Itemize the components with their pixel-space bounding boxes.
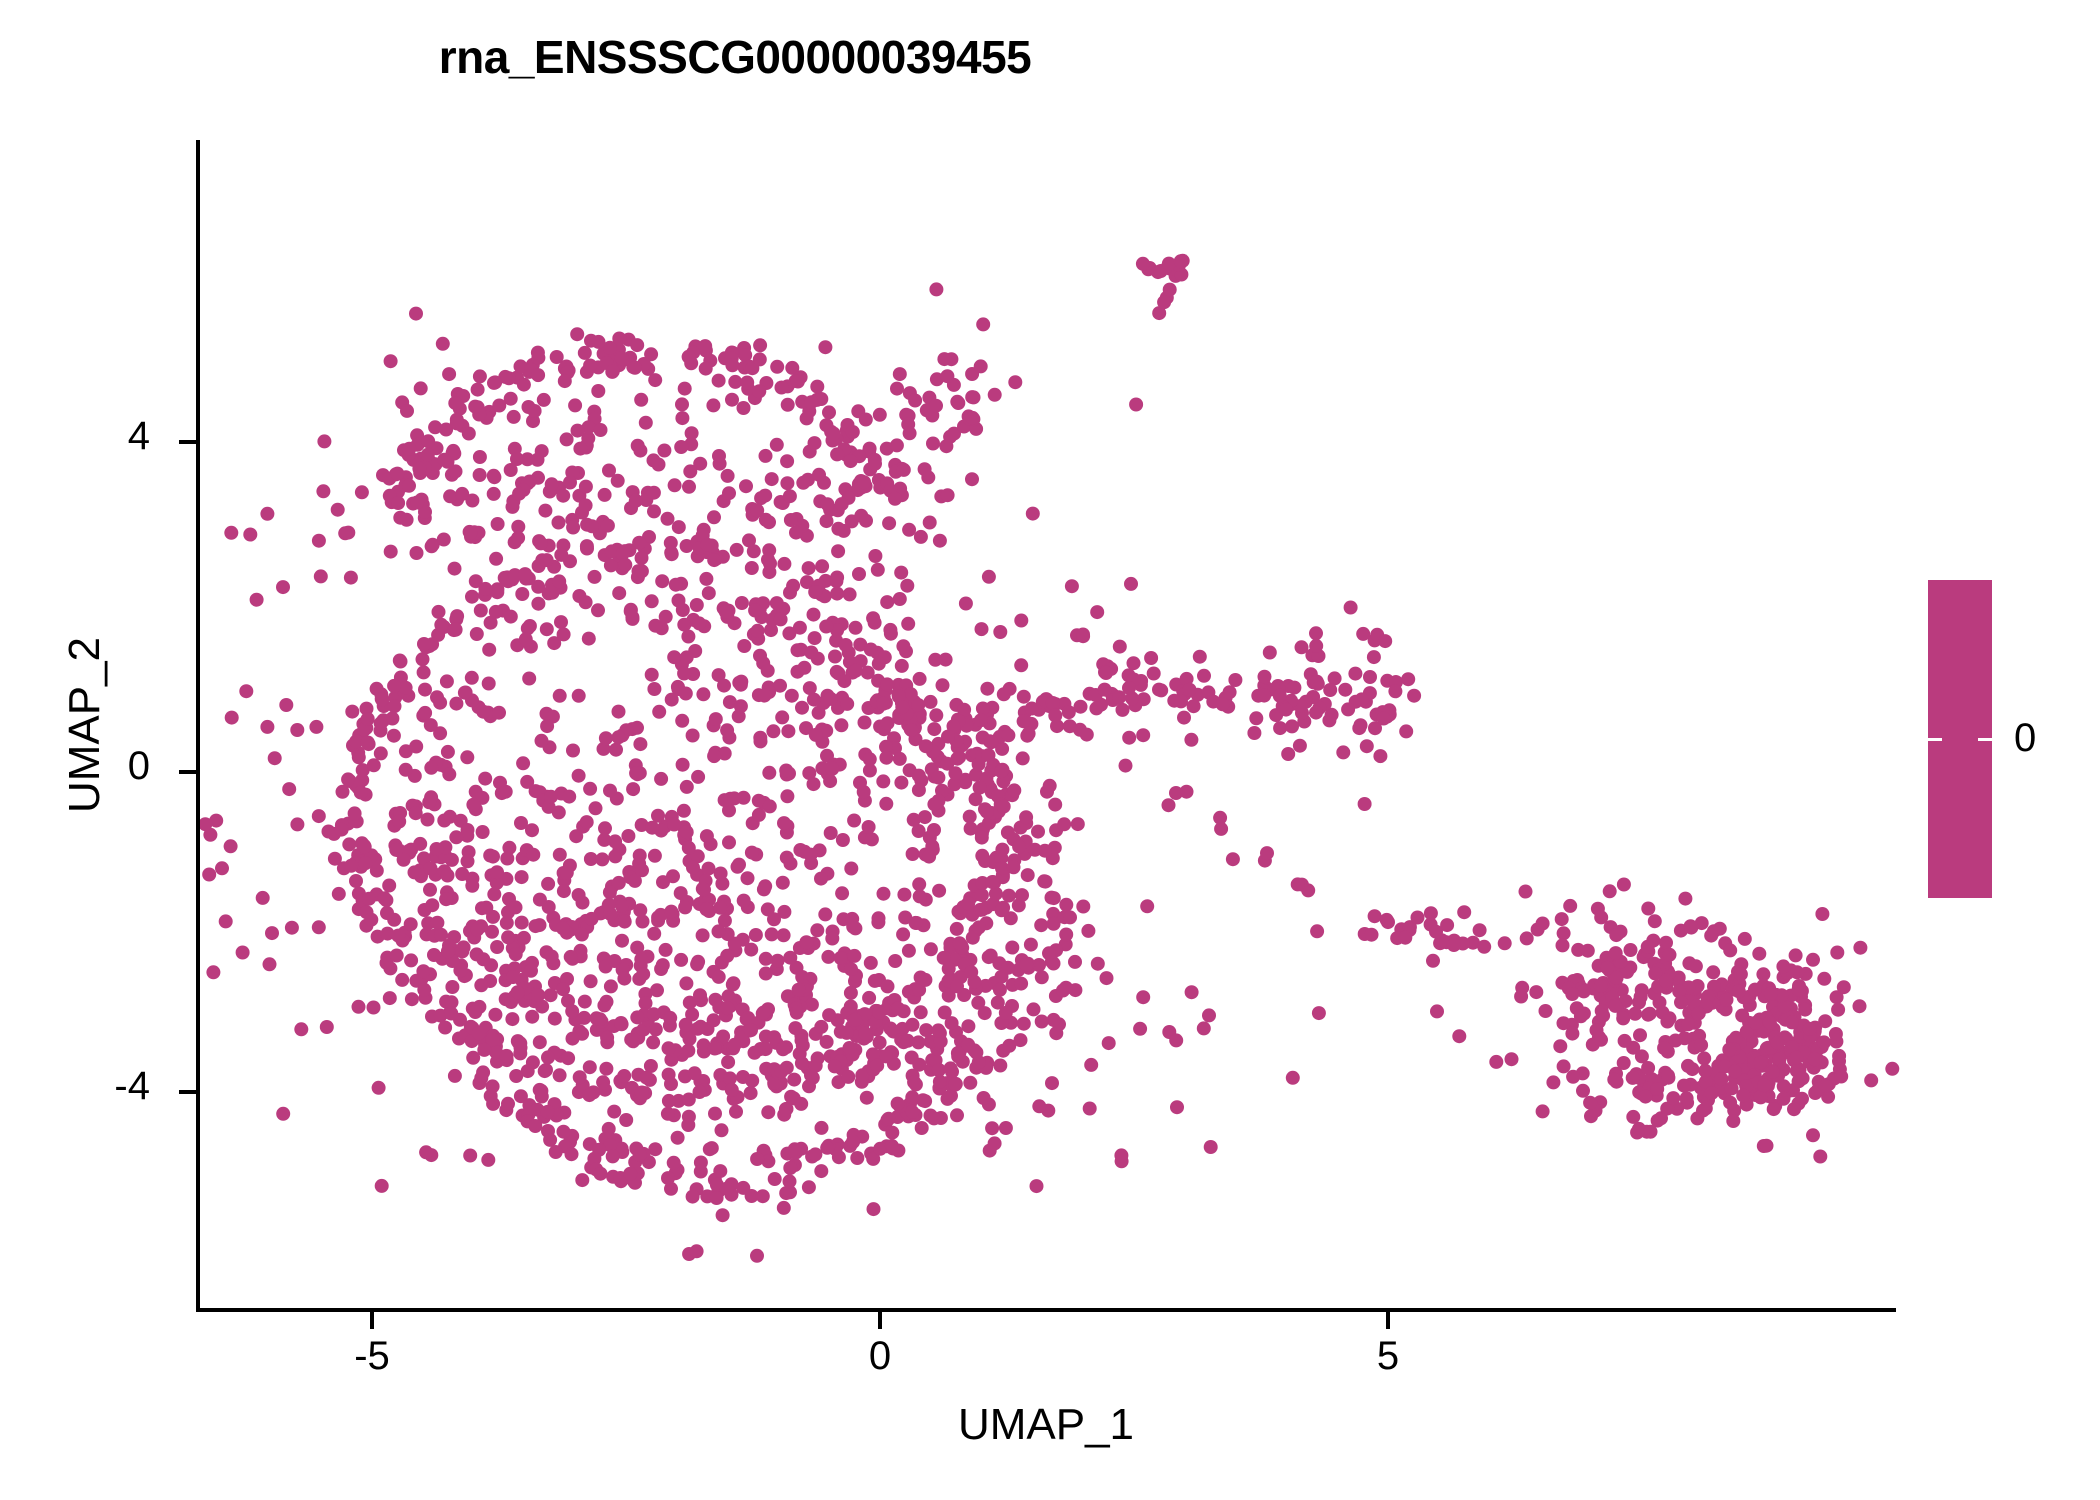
scatter-point xyxy=(691,535,705,549)
scatter-point xyxy=(614,1075,628,1089)
scatter-point xyxy=(841,430,855,444)
scatter-point xyxy=(487,376,501,390)
scatter-point xyxy=(879,696,893,710)
scatter-point xyxy=(612,332,626,346)
scatter-point xyxy=(669,578,683,592)
scatter-point xyxy=(1505,1052,1519,1066)
scatter-point xyxy=(528,1119,542,1133)
scatter-point xyxy=(522,672,536,686)
scatter-point xyxy=(888,993,902,1007)
scatter-point xyxy=(1611,997,1625,1011)
scatter-point xyxy=(813,843,827,857)
scatter-point xyxy=(995,742,1009,756)
scatter-point xyxy=(719,605,733,619)
scatter-point xyxy=(912,769,926,783)
scatter-point xyxy=(791,375,805,389)
scatter-point xyxy=(1748,1088,1762,1102)
scatter-point xyxy=(1284,694,1298,708)
scatter-point xyxy=(949,698,963,712)
scatter-point xyxy=(1808,1024,1822,1038)
scatter-point xyxy=(500,570,514,584)
scatter-point xyxy=(1769,1032,1783,1046)
scatter-point xyxy=(1020,729,1034,743)
scatter-point xyxy=(924,695,938,709)
scatter-point xyxy=(932,1063,946,1077)
scatter-point xyxy=(462,845,476,859)
scatter-point xyxy=(892,690,906,704)
scatter-point xyxy=(635,564,649,578)
scatter-point xyxy=(1022,961,1036,975)
scatter-point xyxy=(680,895,694,909)
scatter-point xyxy=(753,649,767,663)
scatter-point xyxy=(454,814,468,828)
scatter-point xyxy=(1176,684,1190,698)
scatter-point xyxy=(721,927,735,941)
scatter-point xyxy=(1807,1028,1821,1042)
x-tick-0 xyxy=(878,1312,882,1329)
scatter-point xyxy=(674,953,688,967)
scatter-point xyxy=(597,998,611,1012)
scatter-point xyxy=(831,701,845,715)
scatter-point xyxy=(899,644,913,658)
scatter-point xyxy=(439,423,453,437)
scatter-point xyxy=(1039,692,1053,706)
scatter-point xyxy=(512,940,526,954)
scatter-point xyxy=(844,986,858,1000)
scatter-point xyxy=(1728,1064,1742,1078)
scatter-point xyxy=(1567,974,1581,988)
scatter-point xyxy=(1285,697,1299,711)
scatter-point xyxy=(961,1019,975,1033)
scatter-point xyxy=(1257,689,1271,703)
scatter-point xyxy=(1056,984,1070,998)
scatter-point xyxy=(1761,1077,1775,1091)
scatter-point xyxy=(626,782,640,796)
scatter-point xyxy=(1674,924,1688,938)
scatter-point xyxy=(988,388,1002,402)
scatter-point xyxy=(202,868,216,882)
scatter-point xyxy=(1701,991,1715,1005)
scatter-point xyxy=(509,900,523,914)
scatter-point xyxy=(1556,938,1570,952)
scatter-point xyxy=(482,405,496,419)
scatter-point xyxy=(766,724,780,738)
scatter-point xyxy=(465,1034,479,1048)
scatter-point xyxy=(615,899,629,913)
scatter-point xyxy=(1758,989,1772,1003)
scatter-point xyxy=(933,1075,947,1089)
scatter-point xyxy=(536,794,550,808)
scatter-point xyxy=(1660,976,1674,990)
scatter-point xyxy=(1136,990,1150,1004)
scatter-point xyxy=(563,859,577,873)
scatter-point xyxy=(1119,759,1133,773)
scatter-point xyxy=(921,470,935,484)
scatter-point xyxy=(1154,683,1168,697)
scatter-point xyxy=(519,960,533,974)
scatter-point xyxy=(1725,1081,1739,1095)
scatter-point xyxy=(697,619,711,633)
scatter-point xyxy=(957,420,971,434)
scatter-point xyxy=(557,1125,571,1139)
scatter-point xyxy=(956,1055,970,1069)
scatter-point xyxy=(1837,980,1851,994)
scatter-point xyxy=(1581,944,1595,958)
scatter-point xyxy=(1748,1057,1762,1071)
scatter-point xyxy=(593,1012,607,1026)
scatter-point xyxy=(535,1000,549,1014)
scatter-point xyxy=(889,465,903,479)
scatter-point xyxy=(994,797,1008,811)
scatter-point xyxy=(602,1122,616,1136)
scatter-point xyxy=(441,944,455,958)
scatter-point xyxy=(1637,1080,1651,1094)
scatter-point xyxy=(814,872,828,886)
scatter-point xyxy=(791,643,805,657)
scatter-point xyxy=(763,799,777,813)
scatter-point xyxy=(885,1139,899,1153)
scatter-point xyxy=(1312,649,1326,663)
scatter-point xyxy=(1833,1062,1847,1076)
scatter-point xyxy=(980,682,994,696)
scatter-point xyxy=(417,665,431,679)
scatter-point xyxy=(779,764,793,778)
scatter-point xyxy=(1784,963,1798,977)
scatter-point xyxy=(447,623,461,637)
scatter-point xyxy=(613,551,627,565)
scatter-point xyxy=(821,689,835,703)
scatter-point xyxy=(1777,1079,1791,1093)
scatter-point xyxy=(564,922,578,936)
scatter-point xyxy=(422,639,436,653)
scatter-point xyxy=(680,780,694,794)
scatter-point xyxy=(770,962,784,976)
scatter-point xyxy=(800,411,814,425)
scatter-point xyxy=(1755,1048,1769,1062)
scatter-point xyxy=(198,817,212,831)
scatter-point xyxy=(707,965,721,979)
scatter-point xyxy=(393,511,407,525)
scatter-point xyxy=(831,1138,845,1152)
scatter-point xyxy=(888,741,902,755)
scatter-point xyxy=(753,352,767,366)
scatter-point xyxy=(612,876,626,890)
scatter-point xyxy=(1435,933,1449,947)
scatter-point xyxy=(1626,1041,1640,1055)
scatter-point xyxy=(593,526,607,540)
scatter-point xyxy=(1799,967,1813,981)
scatter-point xyxy=(694,1020,708,1034)
scatter-point xyxy=(745,361,759,375)
scatter-point xyxy=(341,526,355,540)
scatter-point xyxy=(1014,977,1028,991)
scatter-point xyxy=(840,1006,854,1020)
scatter-point xyxy=(1349,695,1363,709)
scatter-point xyxy=(495,786,509,800)
scatter-point xyxy=(767,1030,781,1044)
scatter-point xyxy=(1115,1154,1129,1168)
scatter-point xyxy=(788,1021,802,1035)
scatter-point xyxy=(1307,675,1321,689)
scatter-point xyxy=(1697,1000,1711,1014)
scatter-point xyxy=(545,578,559,592)
scatter-point xyxy=(834,1025,848,1039)
scatter-point xyxy=(1632,1071,1646,1085)
scatter-point xyxy=(589,801,603,815)
scatter-point xyxy=(1609,974,1623,988)
scatter-point xyxy=(902,689,916,703)
scatter-point xyxy=(489,605,503,619)
scatter-point xyxy=(1658,956,1672,970)
scatter-point xyxy=(412,462,426,476)
scatter-point xyxy=(909,916,923,930)
scatter-point xyxy=(931,750,945,764)
scatter-point xyxy=(507,410,521,424)
scatter-point xyxy=(762,565,776,579)
scatter-point xyxy=(1041,1104,1055,1118)
scatter-point xyxy=(385,712,399,726)
scatter-point xyxy=(524,964,538,978)
scatter-point xyxy=(958,958,972,972)
scatter-point xyxy=(878,683,892,697)
scatter-point xyxy=(821,497,835,511)
scatter-point xyxy=(1399,724,1413,738)
scatter-point xyxy=(878,1118,892,1132)
scatter-point xyxy=(638,987,652,1001)
scatter-point xyxy=(787,1073,801,1087)
scatter-point xyxy=(1782,1084,1796,1098)
scatter-point xyxy=(757,1144,771,1158)
scatter-point xyxy=(506,970,520,984)
scatter-point xyxy=(1068,955,1082,969)
scatter-point xyxy=(986,758,1000,772)
scatter-point xyxy=(1176,254,1190,268)
scatter-point xyxy=(1411,911,1425,925)
scatter-point xyxy=(918,973,932,987)
scatter-point xyxy=(1604,952,1618,966)
scatter-point xyxy=(629,758,643,772)
scatter-point xyxy=(1738,932,1752,946)
scatter-point xyxy=(848,1043,862,1057)
scatter-point xyxy=(659,943,673,957)
scatter-point xyxy=(656,958,670,972)
scatter-point xyxy=(1019,958,1033,972)
scatter-point xyxy=(496,604,510,618)
scatter-point xyxy=(399,470,413,484)
scatter-point xyxy=(872,973,886,987)
scatter-point xyxy=(743,360,757,374)
scatter-point xyxy=(897,463,911,477)
scatter-point xyxy=(565,1004,579,1018)
scatter-point xyxy=(784,1090,798,1104)
scatter-point xyxy=(490,1055,504,1069)
scatter-point xyxy=(853,1009,867,1023)
scatter-point xyxy=(1226,852,1240,866)
scatter-point xyxy=(696,528,710,542)
scatter-point xyxy=(522,400,536,414)
scatter-point xyxy=(907,813,921,827)
scatter-point xyxy=(893,482,907,496)
scatter-point xyxy=(968,1043,982,1057)
scatter-point xyxy=(734,678,748,692)
scatter-point xyxy=(597,742,611,756)
scatter-point xyxy=(739,479,753,493)
scatter-point xyxy=(972,1055,986,1069)
x-axis-title: UMAP_1 xyxy=(196,1400,1896,1450)
scatter-point xyxy=(1626,1110,1640,1124)
scatter-point xyxy=(557,866,571,880)
scatter-point xyxy=(490,865,504,879)
scatter-point xyxy=(541,1124,555,1138)
scatter-point xyxy=(1169,678,1183,692)
scatter-point xyxy=(685,426,699,440)
scatter-point xyxy=(359,721,373,735)
scatter-point xyxy=(463,924,477,938)
scatter-point xyxy=(804,848,818,862)
scatter-point xyxy=(888,954,902,968)
scatter-point xyxy=(934,489,948,503)
scatter-point xyxy=(732,676,746,690)
scatter-point xyxy=(618,558,632,572)
scatter-point xyxy=(958,735,972,749)
scatter-point xyxy=(716,550,730,564)
scatter-point xyxy=(644,347,658,361)
scatter-point xyxy=(502,892,516,906)
scatter-point xyxy=(642,530,656,544)
scatter-point xyxy=(658,819,672,833)
scatter-point xyxy=(387,913,401,927)
scatter-point xyxy=(1295,640,1309,654)
scatter-point xyxy=(780,454,794,468)
scatter-point xyxy=(631,1166,645,1180)
scatter-point xyxy=(1165,259,1179,273)
scatter-point xyxy=(577,1011,591,1025)
scatter-point xyxy=(832,1150,846,1164)
scatter-point xyxy=(1793,1025,1807,1039)
scatter-point xyxy=(570,327,584,341)
scatter-point xyxy=(419,640,433,654)
scatter-point xyxy=(933,1082,947,1096)
scatter-point xyxy=(563,554,577,568)
scatter-point xyxy=(840,1053,854,1067)
scatter-point xyxy=(380,951,394,965)
scatter-point xyxy=(352,1000,366,1014)
scatter-point xyxy=(710,1041,724,1055)
scatter-point xyxy=(409,307,423,321)
scatter-point xyxy=(541,1105,555,1119)
scatter-point xyxy=(583,782,597,796)
scatter-point xyxy=(625,610,639,624)
scatter-point xyxy=(561,366,575,380)
scatter-point xyxy=(671,1131,685,1145)
scatter-point xyxy=(1006,978,1020,992)
scatter-point xyxy=(450,416,464,430)
scatter-point xyxy=(700,545,714,559)
scatter-point xyxy=(777,816,791,830)
scatter-point xyxy=(930,372,944,386)
scatter-point xyxy=(928,770,942,784)
scatter-point xyxy=(1690,1111,1704,1125)
scatter-point xyxy=(1276,699,1290,713)
scatter-point xyxy=(1802,1037,1816,1051)
scatter-point xyxy=(676,758,690,772)
scatter-point xyxy=(399,744,413,758)
scatter-point xyxy=(819,574,833,588)
scatter-point xyxy=(703,354,717,368)
scatter-point xyxy=(1662,967,1676,981)
scatter-point xyxy=(1661,1045,1675,1059)
scatter-point xyxy=(746,816,760,830)
scatter-point xyxy=(1728,973,1742,987)
scatter-point xyxy=(797,661,811,675)
scatter-point xyxy=(529,784,543,798)
scatter-point xyxy=(409,799,423,813)
scatter-point xyxy=(1723,1096,1737,1110)
scatter-point xyxy=(458,686,472,700)
scatter-point xyxy=(441,745,455,759)
scatter-point xyxy=(913,711,927,725)
scatter-point xyxy=(729,1105,743,1119)
scatter-point xyxy=(546,911,560,925)
scatter-point xyxy=(1011,963,1025,977)
scatter-point xyxy=(950,979,964,993)
scatter-point xyxy=(486,910,500,924)
scatter-point xyxy=(443,810,457,824)
scatter-point xyxy=(723,1071,737,1085)
scatter-point xyxy=(999,769,1013,783)
scatter-point xyxy=(1660,1102,1674,1116)
scatter-point xyxy=(1152,306,1166,320)
scatter-point xyxy=(490,940,504,954)
scatter-point xyxy=(973,903,987,917)
scatter-point xyxy=(575,1027,589,1041)
scatter-point xyxy=(907,1075,921,1089)
scatter-point xyxy=(884,484,898,498)
scatter-point xyxy=(1759,1058,1773,1072)
scatter-point xyxy=(604,558,618,572)
scatter-point xyxy=(780,768,794,782)
scatter-point xyxy=(846,920,860,934)
scatter-point xyxy=(1738,1071,1752,1085)
scatter-point xyxy=(499,1103,513,1117)
scatter-point xyxy=(753,602,767,616)
scatter-point xyxy=(498,571,512,585)
scatter-point xyxy=(927,797,941,811)
scatter-point xyxy=(565,1147,579,1161)
scatter-point xyxy=(1707,924,1721,938)
scatter-point xyxy=(666,907,680,921)
scatter-point xyxy=(754,491,768,505)
scatter-point xyxy=(618,915,632,929)
scatter-point xyxy=(516,851,530,865)
scatter-point xyxy=(348,806,362,820)
scatter-point xyxy=(1599,995,1613,1009)
scatter-point xyxy=(918,1094,932,1108)
scatter-point xyxy=(433,726,447,740)
scatter-point xyxy=(335,818,349,832)
scatter-point xyxy=(985,785,999,799)
scatter-point xyxy=(1812,1054,1826,1068)
scatter-point xyxy=(527,994,541,1008)
scatter-point xyxy=(819,418,833,432)
scatter-point xyxy=(668,1043,682,1057)
scatter-point xyxy=(352,887,366,901)
scatter-point xyxy=(882,996,896,1010)
scatter-point xyxy=(473,369,487,383)
scatter-point xyxy=(584,334,598,348)
scatter-point xyxy=(1737,1060,1751,1074)
scatter-point xyxy=(1650,1089,1664,1103)
